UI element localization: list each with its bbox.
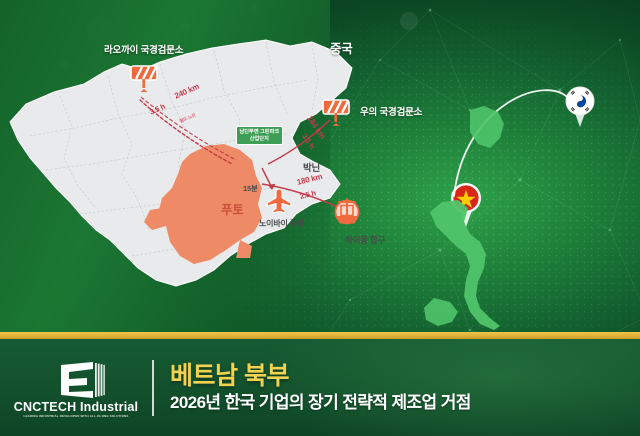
footer-text-block: 베트남 북부 2026년 한국 기업의 장기 전략적 제조업 거점 xyxy=(170,363,471,413)
airplane-icon xyxy=(265,188,293,216)
vietnam-delta-silhouette xyxy=(412,296,472,330)
page-title: 베트남 북부 xyxy=(170,363,471,389)
huu-nghi-border-gate-label: 우의 국경검문소 xyxy=(360,104,422,118)
page-subtitle: 2026년 한국 기업의 장기 전략적 제조업 거점 xyxy=(170,394,471,413)
noi-bai-airport-label: 노이바이 공항 xyxy=(259,218,304,229)
huu-nghi-border-gate-icon xyxy=(320,96,352,126)
hai-phong-port-label: 하이퐁 항구 xyxy=(345,234,385,246)
footer-bar: CNCTECH Industrial LEADING INDUSTRIAL DE… xyxy=(0,339,640,436)
zone-badge-line2: 산업단지 xyxy=(240,136,280,143)
gold-divider-rule xyxy=(0,332,640,339)
ship-icon xyxy=(333,198,361,228)
cnctech-industrial-logo[interactable]: CNCTECH Industrial LEADING INDUSTRIAL DE… xyxy=(0,339,152,436)
lao-cai-border-gate-label: 라오까이 국경검문소 xyxy=(104,42,183,56)
phu-tho-label: 푸토 xyxy=(221,199,244,218)
nam-dinh-xuyen-green-park-badge: 남딘쭈옌 그린파크 산업단지 xyxy=(236,126,283,145)
lao-cai-border-gate-icon xyxy=(128,62,160,92)
logo-tagline: LEADING INDUSTRIAL DEVELOPER WITH ALL-IN… xyxy=(23,415,128,418)
cnctech-logo-mark xyxy=(47,361,105,399)
logo-wordmark: CNCTECH Industrial xyxy=(14,401,138,414)
northern-vietnam-map xyxy=(0,18,430,328)
korea-peninsula-silhouette xyxy=(460,104,520,158)
footer-vertical-divider xyxy=(152,360,154,416)
zone-badge-line1: 남딘쭈옌 그린파크 xyxy=(240,129,280,136)
infographic-slide: 중국 푸토 박닌 라오까이 국경검문소 우의 국경검문소 노이바이 공항 하이퐁… xyxy=(0,0,640,436)
route-airport-time: 15분 xyxy=(243,183,258,194)
china-label: 중국 xyxy=(330,38,353,57)
